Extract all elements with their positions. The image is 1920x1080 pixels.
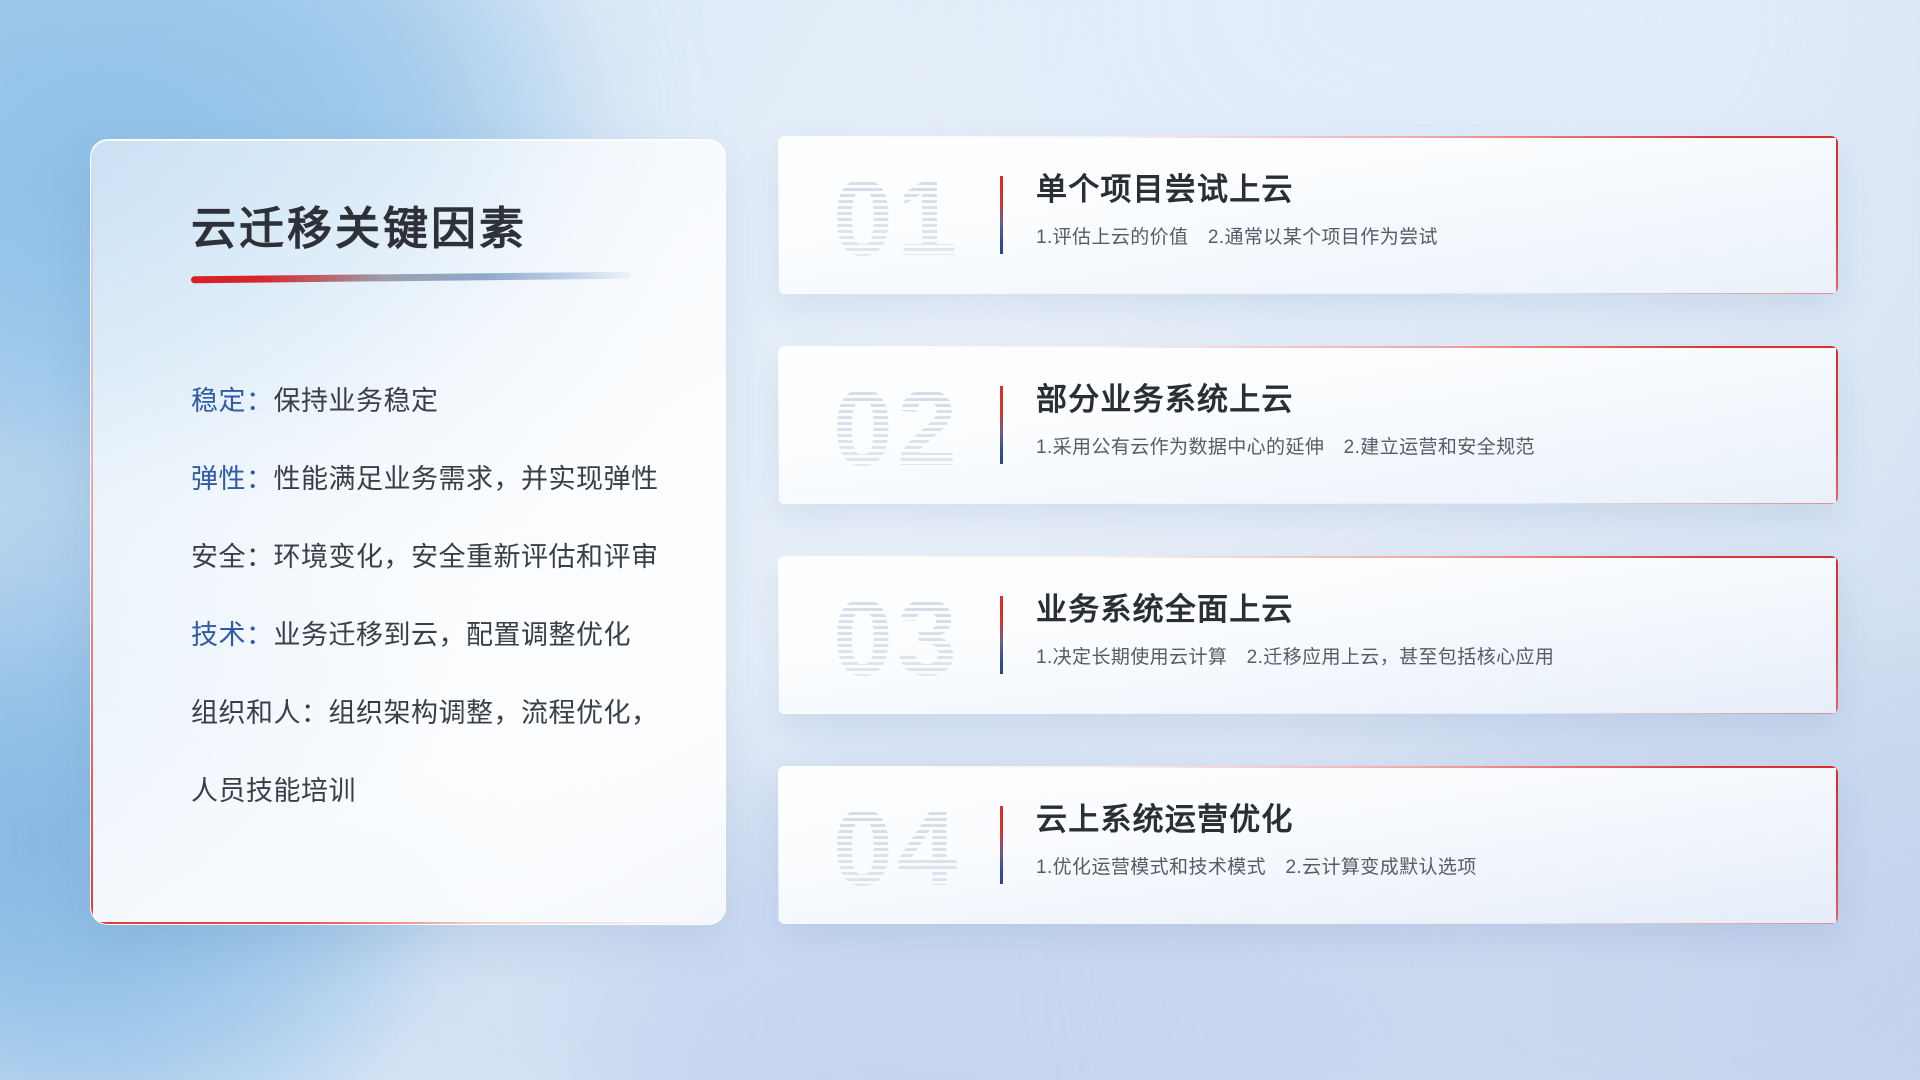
stage-card-01[interactable]: 01 单个项目尝试上云 1.评估上云的价值 2.通常以某个项目作为尝试 <box>778 136 1838 294</box>
list-item-label: 弹性： <box>191 464 274 494</box>
list-item: 弹性：性能满足业务需求，并实现弹性 <box>191 440 677 518</box>
key-factors-list: 稳定：保持业务稳定 弹性：性能满足业务需求，并实现弹性 安全：环境变化，安全重新… <box>191 362 677 830</box>
card-right-accent-border <box>1836 766 1838 924</box>
stage-number-watermark: 01 <box>804 152 990 284</box>
list-item-text: 性能满足业务需求，并实现弹性 <box>274 464 659 494</box>
list-item-text: 保持业务稳定 <box>274 386 439 416</box>
stage-card-title: 单个项目尝试上云 <box>1036 168 1810 212</box>
stage-card-04[interactable]: 04 云上系统运营优化 1.优化运营模式和技术模式 2.云计算变成默认选项 <box>778 766 1838 924</box>
stage-card-title: 云上系统运营优化 <box>1036 798 1810 842</box>
card-right-accent-border <box>1836 556 1838 714</box>
stage-card-body: 部分业务系统上云 1.采用公有云作为数据中心的延伸 2.建立运营和安全规范 <box>1036 378 1810 461</box>
stage-card-body: 云上系统运营优化 1.优化运营模式和技术模式 2.云计算变成默认选项 <box>1036 798 1810 881</box>
title-underline-accent <box>191 272 631 284</box>
card-left-border <box>778 136 779 294</box>
stage-number-text: 01 <box>804 152 990 284</box>
stage-card-03[interactable]: 03 业务系统全面上云 1.决定长期使用云计算 2.迁移应用上云，甚至包括核心应… <box>778 556 1838 714</box>
card-bottom-border <box>778 923 1838 924</box>
card-left-border <box>778 766 779 924</box>
list-item-label: 组织和人： <box>191 698 329 728</box>
card-bottom-border <box>778 503 1838 504</box>
stage-card-description: 1.采用公有云作为数据中心的延伸 2.建立运营和安全规范 <box>1036 435 1810 461</box>
card-bottom-border <box>778 713 1838 714</box>
stage-number-text: 03 <box>804 572 990 704</box>
list-item: 安全：环境变化，安全重新评估和评审 <box>191 518 677 596</box>
stage-card-02[interactable]: 02 部分业务系统上云 1.采用公有云作为数据中心的延伸 2.建立运营和安全规范 <box>778 346 1838 504</box>
card-left-border <box>778 346 779 504</box>
stage-card-title: 部分业务系统上云 <box>1036 378 1810 422</box>
card-right-accent-border <box>1836 136 1838 294</box>
card-bottom-border <box>778 293 1838 294</box>
stage-card-body: 单个项目尝试上云 1.评估上云的价值 2.通常以某个项目作为尝试 <box>1036 168 1810 251</box>
card-top-accent-border <box>778 136 1838 138</box>
list-item-text: 环境变化，安全重新评估和评审 <box>274 542 659 572</box>
stage-card-list: 01 单个项目尝试上云 1.评估上云的价值 2.通常以某个项目作为尝试 02 部… <box>778 136 1838 924</box>
stage-divider-accent <box>1000 386 1003 464</box>
list-item-text: 组织架构调整，流程优化， <box>329 698 659 728</box>
list-item-label: 技术： <box>191 620 274 650</box>
card-top-accent-border <box>778 346 1838 348</box>
stage-card-description: 1.优化运营模式和技术模式 2.云计算变成默认选项 <box>1036 855 1810 881</box>
card-left-border <box>778 556 779 714</box>
list-item: 技术：业务迁移到云，配置调整优化 <box>191 596 677 674</box>
stage-card-description: 1.决定长期使用云计算 2.迁移应用上云，甚至包括核心应用 <box>1036 645 1810 671</box>
list-item: 组织和人：组织架构调整，流程优化， <box>191 674 677 752</box>
list-item: 稳定：保持业务稳定 <box>191 362 677 440</box>
list-item-label: 稳定： <box>191 386 274 416</box>
page-title: 云迁移关键因素 <box>191 192 527 257</box>
stage-divider-accent <box>1000 176 1003 254</box>
key-factors-card: 云迁移关键因素 稳定：保持业务稳定 弹性：性能满足业务需求，并实现弹性 安全：环… <box>90 139 726 925</box>
stage-divider-accent <box>1000 806 1003 884</box>
card-top-accent-border <box>778 766 1838 768</box>
stage-card-title: 业务系统全面上云 <box>1036 588 1810 632</box>
card-top-accent-border <box>778 556 1838 558</box>
stage-divider-accent <box>1000 596 1003 674</box>
list-item-text: 人员技能培训 <box>191 776 356 806</box>
stage-number-text: 02 <box>804 362 990 494</box>
stage-card-body: 业务系统全面上云 1.决定长期使用云计算 2.迁移应用上云，甚至包括核心应用 <box>1036 588 1810 671</box>
slide-canvas: 云迁移关键因素 稳定：保持业务稳定 弹性：性能满足业务需求，并实现弹性 安全：环… <box>0 0 1920 1080</box>
stage-number-watermark: 02 <box>804 362 990 494</box>
card-right-accent-border <box>1836 346 1838 504</box>
list-item-label: 安全： <box>191 542 274 572</box>
list-item-text: 业务迁移到云，配置调整优化 <box>274 620 632 650</box>
stage-number-watermark: 04 <box>804 782 990 914</box>
stage-number-text: 04 <box>804 782 990 914</box>
stage-card-description: 1.评估上云的价值 2.通常以某个项目作为尝试 <box>1036 225 1810 251</box>
stage-number-watermark: 03 <box>804 572 990 704</box>
list-item-continuation: 人员技能培训 <box>191 752 677 830</box>
